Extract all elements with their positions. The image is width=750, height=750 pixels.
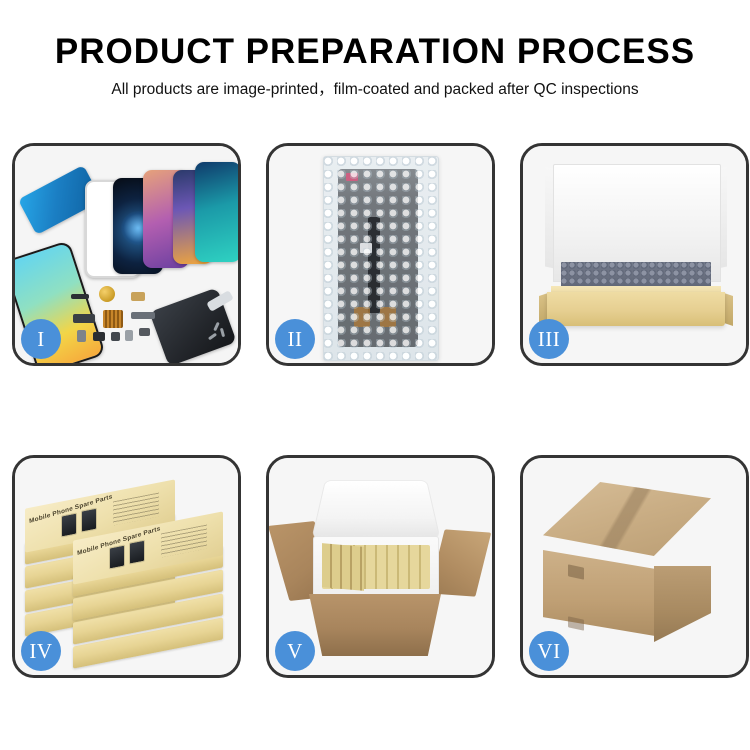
small-part-5 <box>139 328 150 336</box>
white-tag <box>360 243 372 253</box>
carton-front-face <box>543 550 655 636</box>
product-preparation-infographic: PRODUCT PREPARATION PROCESS All products… <box>0 0 750 750</box>
foam-liner <box>313 536 439 600</box>
step-panel-6[interactable]: VI <box>520 455 749 678</box>
box-phone-graphic-1b <box>81 508 97 533</box>
box-spec-lines-2 <box>161 525 207 558</box>
gold-boxes-angled-row <box>322 543 364 591</box>
small-part-4 <box>125 330 133 341</box>
carton-side-face <box>654 566 711 642</box>
box-phone-graphic-1a <box>61 512 77 537</box>
connector-2 <box>380 307 396 327</box>
step-badge-5: V <box>275 631 315 671</box>
bubble-wrap-bag <box>323 156 439 361</box>
step-badge-6: VI <box>529 631 569 671</box>
connector-1 <box>354 307 370 327</box>
teal-screen-panel <box>195 162 238 262</box>
page-subtitle: All products are image-printed，film-coat… <box>0 69 750 98</box>
carton-seam-tape <box>543 482 711 556</box>
wrapped-flex-cable <box>368 217 380 313</box>
step-panel-2[interactable]: II <box>266 143 495 366</box>
flex-cable-3 <box>131 292 145 301</box>
step-badge-2: II <box>275 319 315 359</box>
box-phone-graphic-2b <box>129 540 145 565</box>
step-badge-1: I <box>21 319 61 359</box>
carton-body <box>309 594 441 656</box>
small-part-2 <box>93 332 105 341</box>
box-spec-lines-1 <box>113 493 159 526</box>
carton-handle-slot-bottom <box>568 616 584 630</box>
kraft-box-tray <box>547 292 725 326</box>
step-badge-3: III <box>529 319 569 359</box>
box-phone-graphic-2a <box>109 544 125 569</box>
steps-grid: I II <box>12 143 738 678</box>
step-panel-4[interactable]: Mobile Phone Spare Parts Mobile Phone Sp… <box>12 455 241 678</box>
step-badge-4: IV <box>21 631 61 671</box>
flex-cable-2 <box>131 312 155 319</box>
header: PRODUCT PREPARATION PROCESS All products… <box>0 0 750 98</box>
step-panel-5[interactable]: V <box>266 455 495 678</box>
page-title: PRODUCT PREPARATION PROCESS <box>0 0 750 69</box>
small-part-3 <box>111 332 120 341</box>
chip-module <box>103 310 123 328</box>
component-bar <box>71 294 89 299</box>
step-panel-3[interactable]: III <box>520 143 749 366</box>
small-part-1 <box>77 330 86 342</box>
step-panel-1[interactable]: I <box>12 143 241 366</box>
foam-lid <box>311 480 440 538</box>
pink-label-sticker <box>346 173 358 181</box>
speaker-module <box>99 286 115 302</box>
flex-cable-1 <box>73 314 95 323</box>
